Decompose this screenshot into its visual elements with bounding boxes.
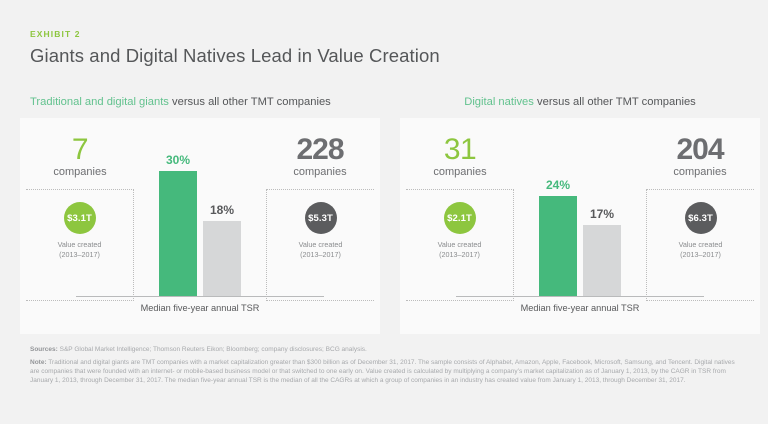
value-created-caption-line1: Value created <box>406 240 513 250</box>
bar-plot-area: 30% 18% <box>128 140 272 296</box>
value-created-box: $2.1T Value created (2013–2017) <box>406 189 514 301</box>
stat-block-giants: 7 companies $3.1T Value created (2013–20… <box>26 134 134 301</box>
value-created-box: $5.3T Value created (2013–2017) <box>266 189 374 301</box>
bar-others <box>203 221 241 296</box>
panel-body: 31 companies $2.1T Value created (2013–2… <box>400 118 760 334</box>
charts-row: Traditional and digital giants versus al… <box>0 96 768 336</box>
axis-label: Median five-year annual TSR <box>448 302 712 314</box>
stat-count-label: companies <box>406 165 514 180</box>
panel-subtitle-rest: versus all other TMT companies <box>169 96 331 108</box>
stat-count: 31 <box>406 134 514 166</box>
stat-block-others: 204 companies $6.3T Value created (2013–… <box>646 134 754 301</box>
panel-body: 7 companies $3.1T Value created (2013–20… <box>20 118 380 334</box>
value-created-caption-line1: Value created <box>647 240 754 250</box>
bar-column-giants: 30% <box>159 140 197 296</box>
panel-subtitle-highlight: Traditional and digital giants <box>30 96 169 108</box>
bar-value-label: 18% <box>210 203 234 217</box>
bar-natives <box>539 196 577 296</box>
value-created-caption-line1: Value created <box>26 240 133 250</box>
bar-group: 30% 18% <box>128 140 272 296</box>
exhibit-header: EXHIBIT 2 Giants and Digital Natives Lea… <box>30 30 730 66</box>
bar-value-label: 17% <box>590 207 614 221</box>
bar-giants <box>159 171 197 296</box>
stat-block-natives: 31 companies $2.1T Value created (2013–2… <box>406 134 514 301</box>
value-created-box: $3.1T Value created (2013–2017) <box>26 189 134 301</box>
chart-panel-traditional-and-digital-giants: Traditional and digital giants versus al… <box>20 96 380 334</box>
value-created-badge: $6.3T <box>685 202 717 234</box>
exhibit-container: EXHIBIT 2 Giants and Digital Natives Lea… <box>0 0 768 424</box>
value-created-box: $6.3T Value created (2013–2017) <box>646 189 754 301</box>
panel-subtitle-rest: versus all other TMT companies <box>534 96 696 108</box>
bar-chart: 24% 17% Median five-year annual TSR <box>508 134 652 310</box>
stat-count-label: companies <box>266 165 374 180</box>
value-created-badge: $5.3T <box>305 202 337 234</box>
stat-count: 7 <box>26 134 134 166</box>
footer-note-text: Traditional and digital giants are TMT c… <box>30 359 735 384</box>
stat-block-others: 228 companies $5.3T Value created (2013–… <box>266 134 374 301</box>
bar-column-others: 17% <box>583 140 621 296</box>
value-created-caption-line2: (2013–2017) <box>26 250 133 260</box>
value-created-badge: $2.1T <box>444 202 476 234</box>
value-created-caption: Value created (2013–2017) <box>406 240 513 260</box>
panel-subtitle: Traditional and digital giants versus al… <box>20 96 380 114</box>
exhibit-eyebrow: EXHIBIT 2 <box>30 30 730 39</box>
exhibit-footer: Sources: S&P Global Market Intelligence;… <box>30 345 736 386</box>
value-created-caption-line2: (2013–2017) <box>647 250 754 260</box>
bar-value-label: 24% <box>546 178 570 192</box>
footer-sources: Sources: S&P Global Market Intelligence;… <box>30 345 736 355</box>
axis-label: Median five-year annual TSR <box>68 302 332 314</box>
footer-note-lead: Note: <box>30 359 47 366</box>
value-created-caption-line1: Value created <box>267 240 374 250</box>
bar-value-label: 30% <box>166 153 190 167</box>
value-created-caption: Value created (2013–2017) <box>26 240 133 260</box>
chart-panel-digital-natives: Digital natives versus all other TMT com… <box>400 96 760 334</box>
stat-count: 228 <box>266 134 374 166</box>
value-created-caption: Value created (2013–2017) <box>647 240 754 260</box>
panel-subtitle-highlight: Digital natives <box>464 96 534 108</box>
value-created-badge: $3.1T <box>64 202 96 234</box>
value-created-caption: Value created (2013–2017) <box>267 240 374 260</box>
value-created-caption-line2: (2013–2017) <box>406 250 513 260</box>
stat-count-label: companies <box>26 165 134 180</box>
bar-chart: 30% 18% Median five-year annual TSR <box>128 134 272 310</box>
stat-count: 204 <box>646 134 754 166</box>
page-title: Giants and Digital Natives Lead in Value… <box>30 45 730 66</box>
stat-count-label: companies <box>646 165 754 180</box>
footer-note: Note: Traditional and digital giants are… <box>30 358 736 386</box>
bar-column-natives: 24% <box>539 140 577 296</box>
bar-others <box>583 225 621 296</box>
bar-plot-area: 24% 17% <box>508 140 652 296</box>
footer-sources-text: S&P Global Market Intelligence; Thomson … <box>58 346 367 353</box>
bar-column-others: 18% <box>203 140 241 296</box>
panel-subtitle: Digital natives versus all other TMT com… <box>400 96 760 114</box>
footer-sources-lead: Sources: <box>30 346 58 353</box>
value-created-caption-line2: (2013–2017) <box>267 250 374 260</box>
bar-group: 24% 17% <box>508 140 652 296</box>
